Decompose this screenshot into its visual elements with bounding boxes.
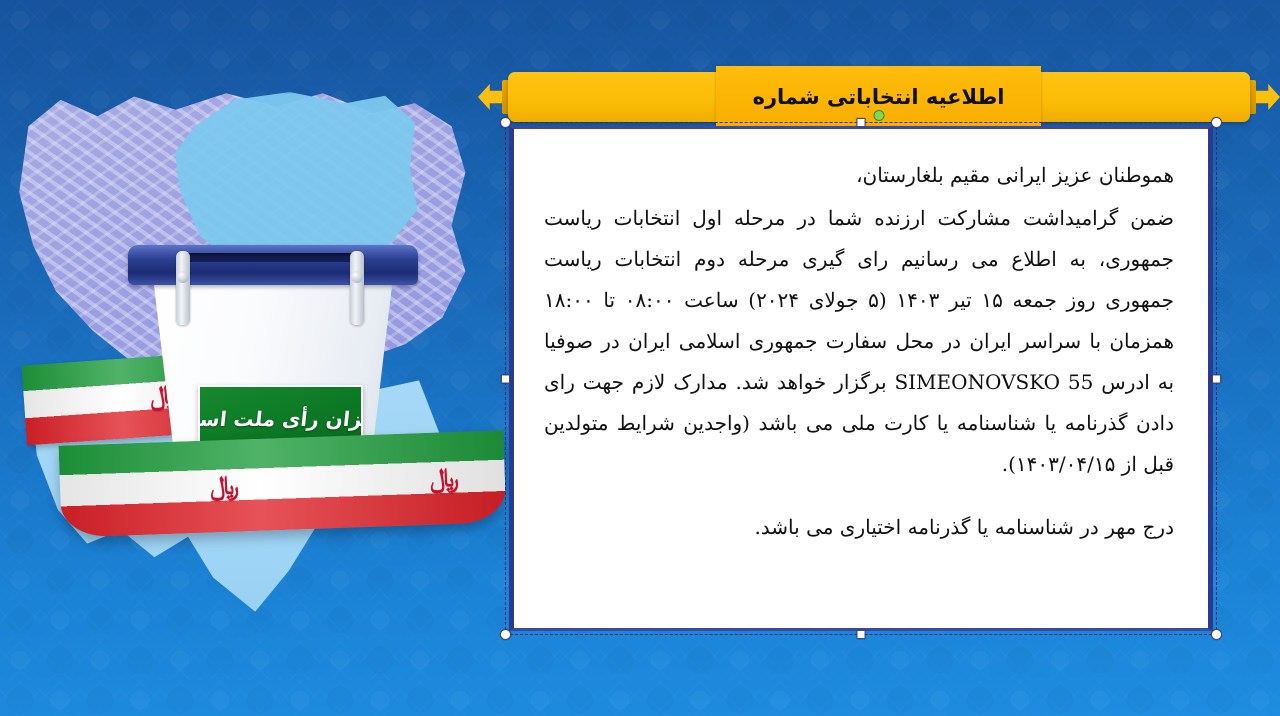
- flag-ribbon-band: ﷼ ﷼: [59, 430, 507, 537]
- announcement-card-frame: هموطنان عزیز ایرانی مقیم بلغارستان، ضمن …: [509, 126, 1213, 631]
- iran-emblem-icon-2: ﷼: [210, 473, 240, 500]
- iran-emblem-icon-3: ﷼: [429, 465, 459, 492]
- ballot-box-label-text: میزان رأی ملت است: [198, 408, 363, 430]
- handle-top-center[interactable]: [857, 118, 866, 127]
- ballot-box-clasp-right: [350, 251, 364, 325]
- handle-bottom-right[interactable]: [1211, 629, 1222, 640]
- paragraph-stamp-note: درج مهر در شناسنامه یا گذرنامه اختیاری م…: [544, 507, 1174, 548]
- handle-middle-right[interactable]: [1212, 374, 1221, 383]
- announcement-text-box[interactable]: هموطنان عزیز ایرانی مقیم بلغارستان، ضمن …: [505, 122, 1217, 635]
- ballot-box-lid: [128, 245, 418, 285]
- arrow-left-icon: [1252, 84, 1280, 110]
- banner-title-text: اطلاعیه انتخاباتی شماره: [753, 85, 1005, 109]
- ballot-box-clasp-left: [176, 251, 190, 325]
- election-artwork: ﷼ میزان رأی ملت است ﷼ ﷼: [0, 70, 500, 690]
- announcement-body[interactable]: هموطنان عزیز ایرانی مقیم بلغارستان، ضمن …: [544, 155, 1174, 548]
- handle-middle-left[interactable]: [501, 374, 510, 383]
- handle-top-right[interactable]: [1211, 117, 1222, 128]
- handle-top-left[interactable]: [500, 117, 511, 128]
- ballot-box-slot: [184, 253, 364, 262]
- paragraph-details-text: ضمن گرامیداشت مشارکت ارزنده شما در مرحله…: [544, 206, 1174, 394]
- embassy-address-latin: SIMEONOVSKO 55: [894, 370, 1093, 394]
- paragraph-greeting: هموطنان عزیز ایرانی مقیم بلغارستان،: [544, 155, 1174, 196]
- rotate-handle-icon[interactable]: [874, 110, 885, 121]
- paragraph-details: ضمن گرامیداشت مشارکت ارزنده شما در مرحله…: [544, 198, 1174, 485]
- handle-bottom-left[interactable]: [500, 629, 511, 640]
- announcement-banner[interactable]: اطلاعیه انتخاباتی شماره: [478, 66, 1280, 128]
- announcement-card-inner: هموطنان عزیز ایرانی مقیم بلغارستان، ضمن …: [514, 129, 1208, 628]
- slide-canvas: ﷼ میزان رأی ملت است ﷼ ﷼ اطلاعیه: [0, 0, 1280, 716]
- handle-bottom-center[interactable]: [857, 630, 866, 639]
